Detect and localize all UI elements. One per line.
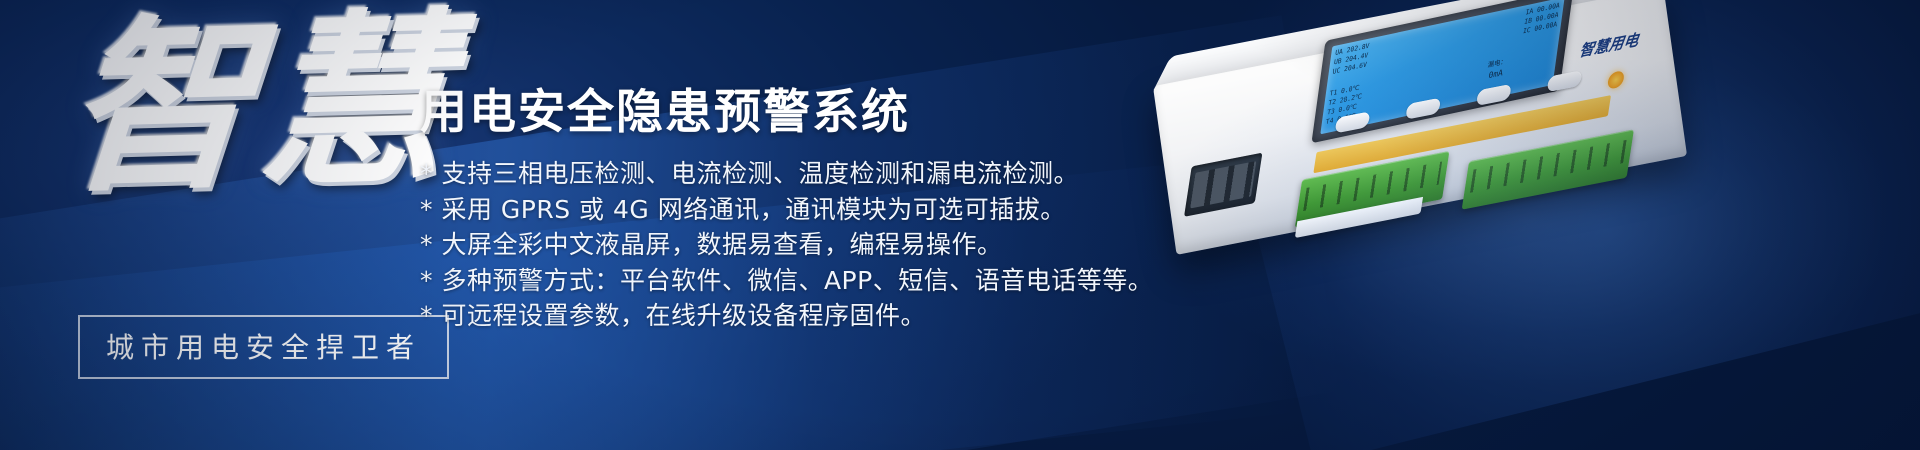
slogan-box: 城市用电安全捍卫者 [78,315,449,379]
copy-block: 用电安全隐患预警系统 * 支持三相电压检测、电流检测、温度检测和漏电流检测。 *… [420,86,1140,334]
brand-block: 智慧 [60,14,420,204]
device-button[interactable] [1335,111,1371,133]
list-item: * 可远程设置参数，在线升级设备程序固件。 [420,298,1140,334]
device-front-face: UA 202.8V UB 204.4V UC 204.6V IA 00.00A … [1153,0,1687,255]
feature-list: * 支持三相电压检测、电流检测、温度检测和漏电流检测。 * 采用 GPRS 或 … [420,156,1140,334]
list-item: * 采用 GPRS 或 4G 网络通讯，通讯模块为可选可插拔。 [420,192,1140,228]
device-button[interactable] [1405,97,1441,119]
list-item: * 多种预警方式：平台软件、微信、APP、短信、语音电话等等。 [420,263,1140,299]
product-image: UA 202.8V UB 204.4V UC 204.6V IA 00.00A … [1100,8,1900,388]
page-title: 用电安全隐患预警系统 [420,86,1140,140]
device-terminal-green-lower [1462,129,1634,209]
calligraphy-title: 智慧 [53,5,429,204]
device-button[interactable] [1476,83,1512,105]
list-item: * 大屏全彩中文液晶屏，数据易查看，编程易操作。 [420,227,1140,263]
device-connector-black [1184,153,1262,217]
list-item: * 支持三相电压检测、电流检测、温度检测和漏电流检测。 [420,156,1140,192]
device-brand-logo: 智慧用电 [1564,15,1653,75]
slogan-text: 城市用电安全捍卫者 [106,331,421,364]
sun-icon [1607,70,1625,90]
promo-banner: 智慧 城市用电安全捍卫者 用电安全隐患预警系统 * 支持三相电压检测、电流检测、… [0,0,1920,450]
device-illustration: UA 202.8V UB 204.4V UC 204.6V IA 00.00A … [1153,0,1687,255]
